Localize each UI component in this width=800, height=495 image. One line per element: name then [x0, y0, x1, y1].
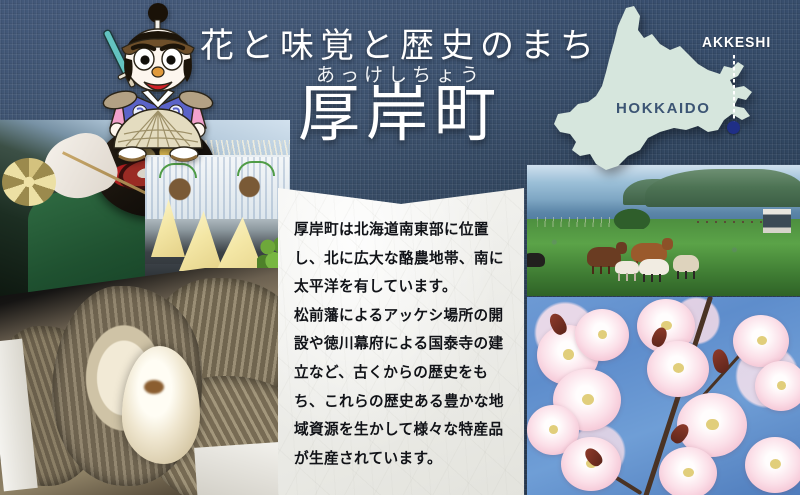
- cherry-blossom: [659, 447, 717, 495]
- tray-rim: [194, 440, 290, 495]
- horse: [673, 255, 699, 272]
- akkeshi-town-promotional-banner: HOKKAIDO AKKESHI: [0, 0, 800, 495]
- cherry-blossom-photo: [527, 297, 800, 495]
- cherry-blossom: [745, 437, 800, 493]
- oyster-meat: [122, 346, 200, 464]
- horse: [527, 253, 545, 267]
- horse: [615, 261, 639, 274]
- cherry-blossom: [733, 315, 789, 367]
- field-structure: [763, 209, 791, 233]
- fence-line-far: [537, 217, 611, 227]
- coastal-pasture-photo: [527, 165, 800, 296]
- description-panel: 厚岸町は北海道南東部に位置し、北に広大な酪農地帯、南に太平洋を有しています。 松…: [278, 176, 524, 495]
- package-arc-right: [237, 161, 275, 176]
- cherry-blossom: [647, 341, 709, 397]
- description-text-block: 厚岸町は北海道南東部に位置し、北に広大な酪農地帯、南に太平洋を有しています。 松…: [278, 176, 524, 473]
- description-paragraph-1: 厚岸町は北海道南東部に位置し、北に広大な酪農地帯、南に太平洋を有しています。: [294, 216, 510, 302]
- horse: [639, 259, 669, 275]
- dancer-bell-ornament: [2, 158, 56, 206]
- bush: [611, 207, 653, 229]
- cherry-blossom: [755, 361, 800, 411]
- town-name-title: 厚岸町: [0, 84, 800, 146]
- oyster-shell-open: [52, 286, 202, 486]
- description-paragraph-2: 松前藩によるアッケシ場所の開設や徳川幕府による国泰寺の建立など、古くからの歴史を…: [294, 302, 510, 474]
- oysters-photo: [0, 268, 290, 495]
- cheese-wedge: [179, 211, 223, 271]
- cherry-blossom: [575, 309, 629, 361]
